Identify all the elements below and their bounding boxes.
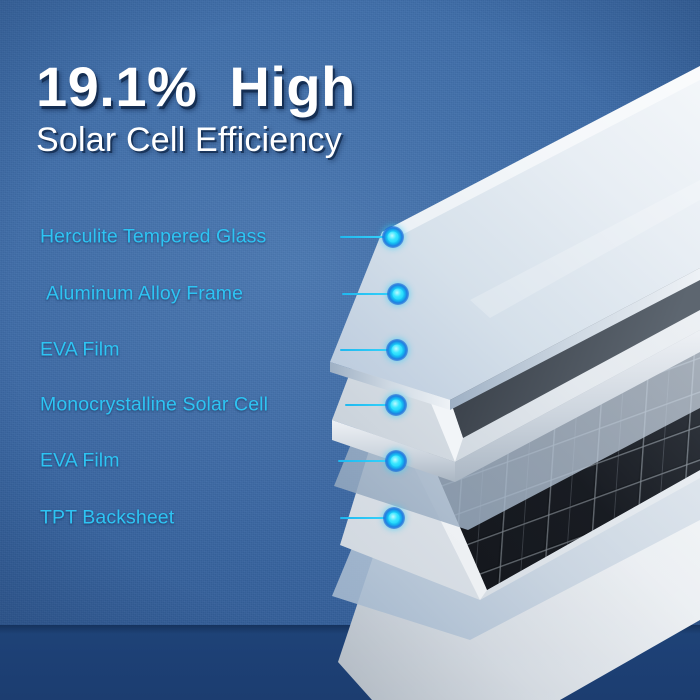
callout-leader-line [342, 293, 392, 295]
callout-leader-line [338, 460, 389, 462]
callout-marker-dot[interactable] [385, 450, 407, 472]
callout-label-monocrystalline-solar-cell: Monocrystalline Solar Cell [40, 394, 268, 417]
callout-marker-dot[interactable] [383, 507, 405, 529]
callout-marker-dot[interactable] [385, 394, 407, 416]
callout-label-tpt-backsheet: TPT Backsheet [40, 507, 174, 530]
callout-leader-line [345, 404, 389, 406]
callout-marker-dot[interactable] [387, 283, 409, 305]
callout-label-herculite-tempered-glass: Herculite Tempered Glass [40, 226, 266, 249]
callout-marker-dot[interactable] [386, 339, 408, 361]
solar-panel-infographic: 19.1% High Solar Cell Efficiency Herculi… [0, 0, 700, 700]
callout-leader-line [340, 236, 386, 238]
callout-leader-line [340, 517, 387, 519]
callout-marker-dot[interactable] [382, 226, 404, 248]
callout-label-eva-film: EVA Film [40, 450, 120, 473]
callout-label-eva-film: EVA Film [40, 339, 120, 362]
callout-label-aluminum-alloy-frame: Aluminum Alloy Frame [46, 283, 243, 306]
callout-leader-line [340, 349, 390, 351]
headline-subtitle: Solar Cell Efficiency [36, 122, 436, 159]
headline-block: 19.1% High Solar Cell Efficiency [36, 58, 436, 160]
headline-efficiency-value: 19.1% High [36, 58, 436, 116]
bottom-band [0, 625, 700, 700]
